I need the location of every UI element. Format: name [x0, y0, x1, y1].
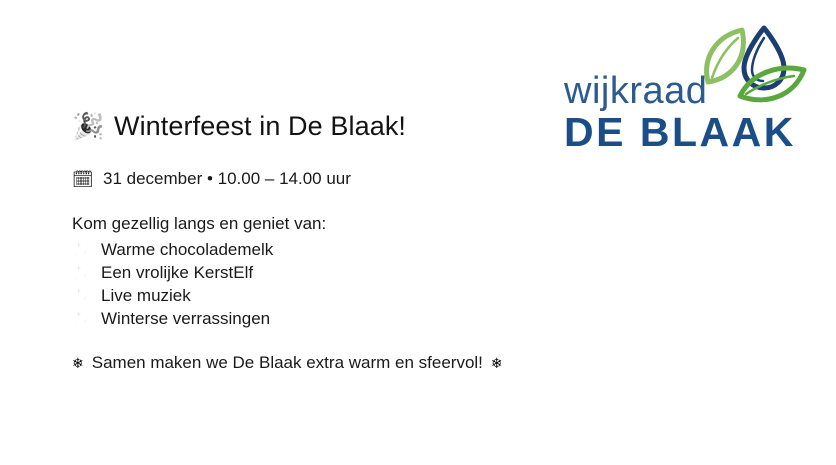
list-item: ✨ Warme chocolademelk — [72, 240, 772, 263]
page-title: Winterfeest in De Blaak! — [114, 111, 406, 142]
list-item-label: Een vrolijke KerstElf — [101, 263, 253, 283]
party-popper-icon: 🎉 — [72, 113, 102, 139]
event-date-row: 🗓 31 december • 10.00 – 14.00 uur — [72, 167, 772, 191]
intro-text: Kom gezellig langs en geniet van: — [72, 214, 772, 234]
sparkles-icon: ✨ — [72, 287, 91, 305]
snowflake-icon: ❄ — [491, 355, 503, 372]
list-item: ✨ Winterse verrassingen — [72, 309, 772, 332]
sparkles-icon: ✨ — [72, 241, 91, 259]
closing-line: ❄ Samen maken we De Blaak extra warm en … — [72, 353, 772, 373]
list-item: ✨ Een vrolijke KerstElf — [72, 263, 772, 286]
event-date-text: 31 december • 10.00 – 14.00 uur — [103, 169, 351, 189]
announcement-content: 🎉 Winterfeest in De Blaak! 🗓 31 december… — [72, 104, 772, 373]
activities-list: ✨ Warme chocolademelk ✨ Een vrolijke Ker… — [72, 240, 772, 332]
list-item: ✨ Live muziek — [72, 286, 772, 309]
list-item-label: Warme chocolademelk — [101, 240, 273, 260]
closing-text: Samen maken we De Blaak extra warm en sf… — [92, 353, 483, 373]
announcement-title-row: 🎉 Winterfeest in De Blaak! — [72, 104, 772, 148]
sparkles-icon: ✨ — [72, 264, 91, 282]
calendar-icon: 🗓 — [72, 171, 92, 188]
list-item-label: Live muziek — [101, 286, 191, 306]
sparkles-icon: ✨ — [72, 310, 91, 328]
list-item-label: Winterse verrassingen — [101, 309, 270, 329]
snowflake-icon: ❄ — [72, 355, 84, 372]
